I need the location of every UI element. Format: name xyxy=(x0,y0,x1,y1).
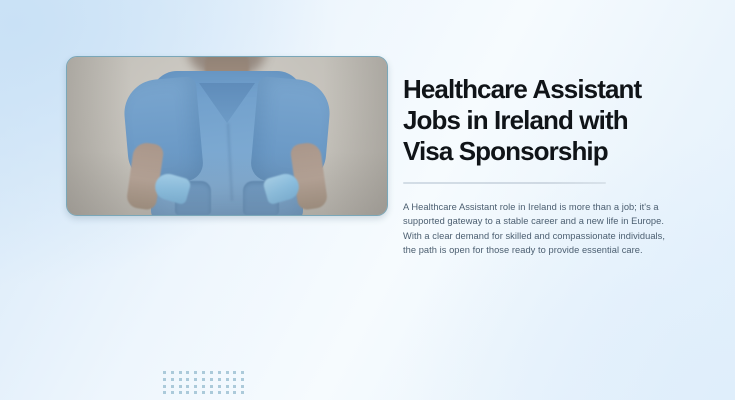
dot xyxy=(179,391,182,394)
dot xyxy=(163,371,166,374)
title-divider xyxy=(403,182,606,184)
dot xyxy=(233,378,236,381)
dot xyxy=(241,385,244,388)
dot xyxy=(218,391,221,394)
dot xyxy=(202,371,205,374)
dot xyxy=(186,391,189,394)
dot xyxy=(233,371,236,374)
dot xyxy=(186,385,189,388)
dot xyxy=(202,378,205,381)
dot xyxy=(202,385,205,388)
healthcare-assistant-photo xyxy=(66,56,388,216)
dot xyxy=(218,385,221,388)
dot xyxy=(179,371,182,374)
dot xyxy=(163,385,166,388)
dot xyxy=(179,385,182,388)
dot xyxy=(163,378,166,381)
page-title: Healthcare Assistant Jobs in Ireland wit… xyxy=(403,74,675,167)
photo-background xyxy=(67,57,387,215)
dot xyxy=(210,378,213,381)
dot xyxy=(226,391,229,394)
dot xyxy=(218,378,221,381)
dot xyxy=(233,385,236,388)
dot xyxy=(226,371,229,374)
dot xyxy=(171,378,174,381)
text-column: Healthcare Assistant Jobs in Ireland wit… xyxy=(403,74,675,257)
photo-vignette xyxy=(67,57,387,215)
promo-banner: Healthcare Assistant Jobs in Ireland wit… xyxy=(0,0,735,400)
dot xyxy=(194,385,197,388)
dot xyxy=(179,378,182,381)
dot xyxy=(241,391,244,394)
dot xyxy=(171,385,174,388)
dot xyxy=(233,391,236,394)
dot xyxy=(210,391,213,394)
dot xyxy=(218,371,221,374)
dot xyxy=(202,391,205,394)
dot xyxy=(194,378,197,381)
dot xyxy=(186,371,189,374)
dot xyxy=(163,391,166,394)
dot xyxy=(241,371,244,374)
dot xyxy=(186,378,189,381)
dot xyxy=(226,378,229,381)
dot xyxy=(241,378,244,381)
dot xyxy=(194,391,197,394)
dot xyxy=(210,371,213,374)
dot xyxy=(171,391,174,394)
dot xyxy=(194,371,197,374)
dot-grid-decoration xyxy=(163,371,249,398)
dot xyxy=(210,385,213,388)
intro-paragraph: A Healthcare Assistant role in Ireland i… xyxy=(403,200,675,257)
dot xyxy=(226,385,229,388)
dot xyxy=(171,371,174,374)
